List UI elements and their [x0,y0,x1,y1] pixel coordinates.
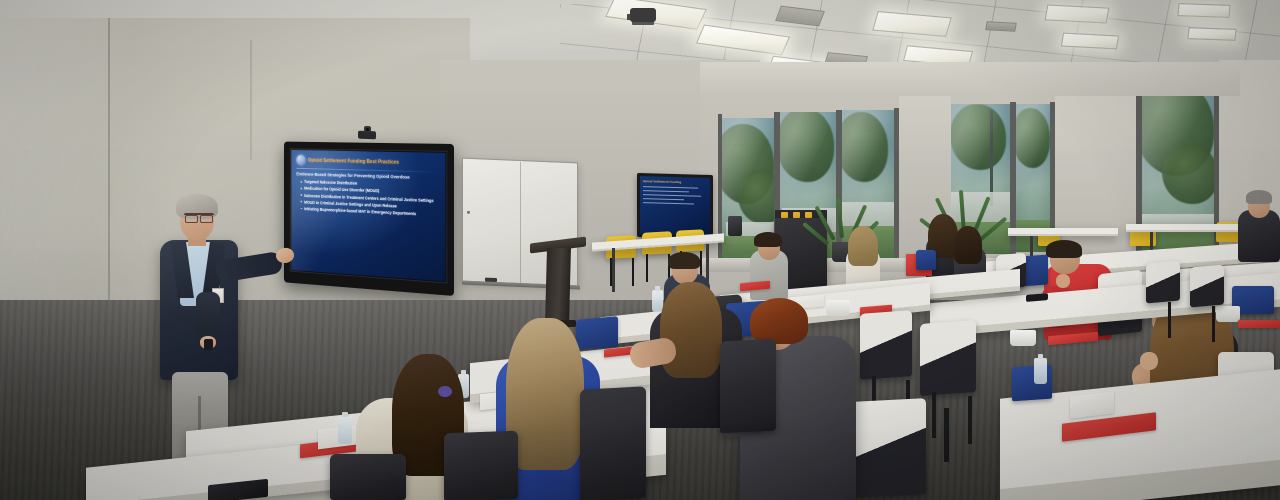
conference-room-scene: Opioid Settlement Funding Best Practices… [0,0,1280,500]
coffee-cup [826,300,850,316]
secondary-monitor-line [643,190,689,193]
webcam-icon [358,131,376,140]
secondary-monitor-screen: Opioid Settlement Funding [640,176,710,236]
secondary-monitor-line [643,194,701,197]
chair[interactable] [580,386,646,500]
chair-leg [700,251,702,277]
projector-mount-icon [630,8,656,22]
attendee-hand [1140,352,1158,370]
wall-seam [250,40,252,160]
attendee-hair [660,282,722,378]
chair[interactable] [852,398,926,498]
hair-tie-icon [438,386,452,397]
chair-leg [968,396,972,444]
table-leg [612,248,615,292]
chair[interactable] [1190,265,1224,308]
whiteboard-knob-icon [467,211,470,214]
chair-leg [632,258,634,286]
chair-leg [944,408,949,462]
back-high-table [1008,228,1118,236]
secondary-monitor-title: Opioid Settlement Funding [643,179,707,185]
chair[interactable] [330,454,406,500]
chair[interactable] [920,320,976,396]
attendee-hair [954,226,982,264]
chair-leg [646,254,648,282]
coffee-cup [1010,330,1036,346]
slide-content: Opioid Settlement Funding Best Practices… [291,150,445,281]
blue-conference-bag [916,250,936,270]
ceiling-vent [985,21,1017,31]
whiteboard-seam [520,162,521,284]
window-mullion [718,114,722,268]
presenter-left-arm [196,292,220,342]
slide-title: Opioid Settlement Funding Best Practices [308,157,399,165]
slide-title-row: Opioid Settlement Funding Best Practices [296,155,439,169]
display-bezel: Opioid Settlement Funding Best Practices… [290,148,448,283]
red-folder [1238,320,1280,328]
bullet-dot-icon [301,208,302,210]
bullet-dot-icon [301,201,302,203]
water-bottle [1034,358,1047,384]
bullet-dot-icon [301,181,302,183]
chair[interactable] [1146,261,1180,304]
chair[interactable] [860,310,912,380]
glasses-icon [184,213,214,219]
bullet-dot-icon [301,194,302,196]
window-header-band [700,62,1240,96]
attendee-hair [1046,240,1082,258]
presentation-display[interactable]: Opioid Settlement Funding Best Practices… [284,142,454,296]
ceiling-light [1177,3,1230,18]
lectern [545,248,571,324]
attendee-hair [668,252,700,269]
speaker-icon [728,216,742,236]
attendee-hair [754,232,782,247]
secondary-monitor-line [643,198,684,201]
bullet-dot-icon [301,188,302,190]
lamp-post [990,110,993,206]
secondary-monitor-line [643,202,694,205]
attendee-hair [750,298,808,344]
ceiling-light [1187,27,1236,41]
ceiling-light [1061,33,1119,50]
presentation-clicker[interactable] [204,339,213,350]
chair-leg [932,392,936,438]
attendee-hair [848,226,878,266]
chair-leg [1212,306,1215,342]
attendee-hair [1246,190,1272,204]
presentation-seal-logo-icon [296,155,305,165]
whiteboard-eraser-icon[interactable] [485,278,497,283]
coffee-cup [1216,306,1240,322]
water-bottle [338,416,352,444]
chair[interactable] [444,431,518,500]
attendee-hand [1056,274,1070,288]
back-high-table [1126,224,1246,232]
chair[interactable] [720,339,776,434]
ceiling-light [1045,4,1110,23]
chair-leg [1168,302,1171,338]
blue-conference-bag [576,316,618,350]
secondary-monitor-line [643,186,698,189]
